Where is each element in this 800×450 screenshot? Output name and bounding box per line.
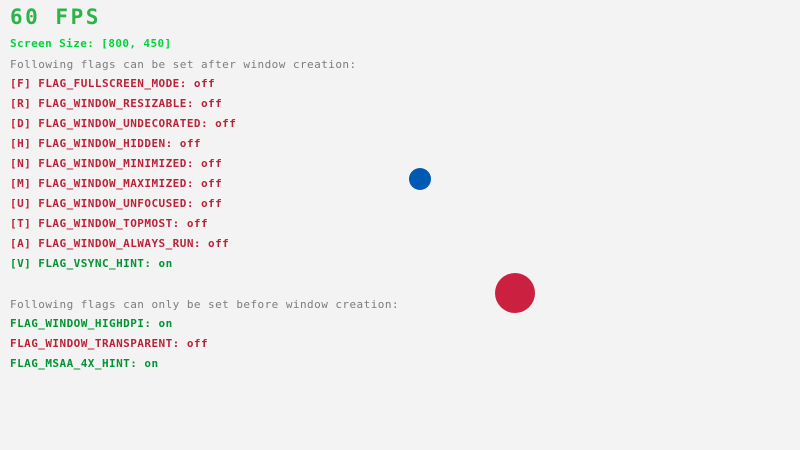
heading-flags-before-creation: Following flags can only be set before w… (10, 299, 399, 310)
flag-row-flag-window-topmost[interactable]: [T] FLAG_WINDOW_TOPMOST: off (10, 218, 208, 229)
blue-ball-shape (409, 168, 431, 190)
flag-row-flag-window-hidden[interactable]: [H] FLAG_WINDOW_HIDDEN: off (10, 138, 201, 149)
flag-row-flag-vsync-hint[interactable]: [V] FLAG_VSYNC_HINT: on (10, 258, 173, 269)
flag-row-flag-window-always-run[interactable]: [A] FLAG_WINDOW_ALWAYS_RUN: off (10, 238, 229, 249)
flag-row-flag-window-highdpi[interactable]: FLAG_WINDOW_HIGHDPI: on (10, 318, 173, 329)
flag-row-flag-msaa-4x-hint[interactable]: FLAG_MSAA_4X_HINT: on (10, 358, 159, 369)
flag-row-flag-window-maximized[interactable]: [M] FLAG_WINDOW_MAXIMIZED: off (10, 178, 222, 189)
screen-size-label: Screen Size: [800, 450] (10, 38, 172, 49)
flag-row-flag-window-minimized[interactable]: [N] FLAG_WINDOW_MINIMIZED: off (10, 158, 222, 169)
flag-row-flag-window-unfocused[interactable]: [U] FLAG_WINDOW_UNFOCUSED: off (10, 198, 222, 209)
app-canvas[interactable]: 60 FPS Screen Size: [800, 450] Following… (0, 0, 800, 450)
flag-row-flag-window-resizable[interactable]: [R] FLAG_WINDOW_RESIZABLE: off (10, 98, 222, 109)
heading-flags-after-creation: Following flags can be set after window … (10, 59, 357, 70)
fps-counter: 60 FPS (10, 7, 101, 28)
flag-row-flag-window-undecorated[interactable]: [D] FLAG_WINDOW_UNDECORATED: off (10, 118, 236, 129)
red-ball-shape (495, 273, 535, 313)
flag-row-flag-fullscreen-mode[interactable]: [F] FLAG_FULLSCREEN_MODE: off (10, 78, 215, 89)
flag-row-flag-window-transparent[interactable]: FLAG_WINDOW_TRANSPARENT: off (10, 338, 208, 349)
